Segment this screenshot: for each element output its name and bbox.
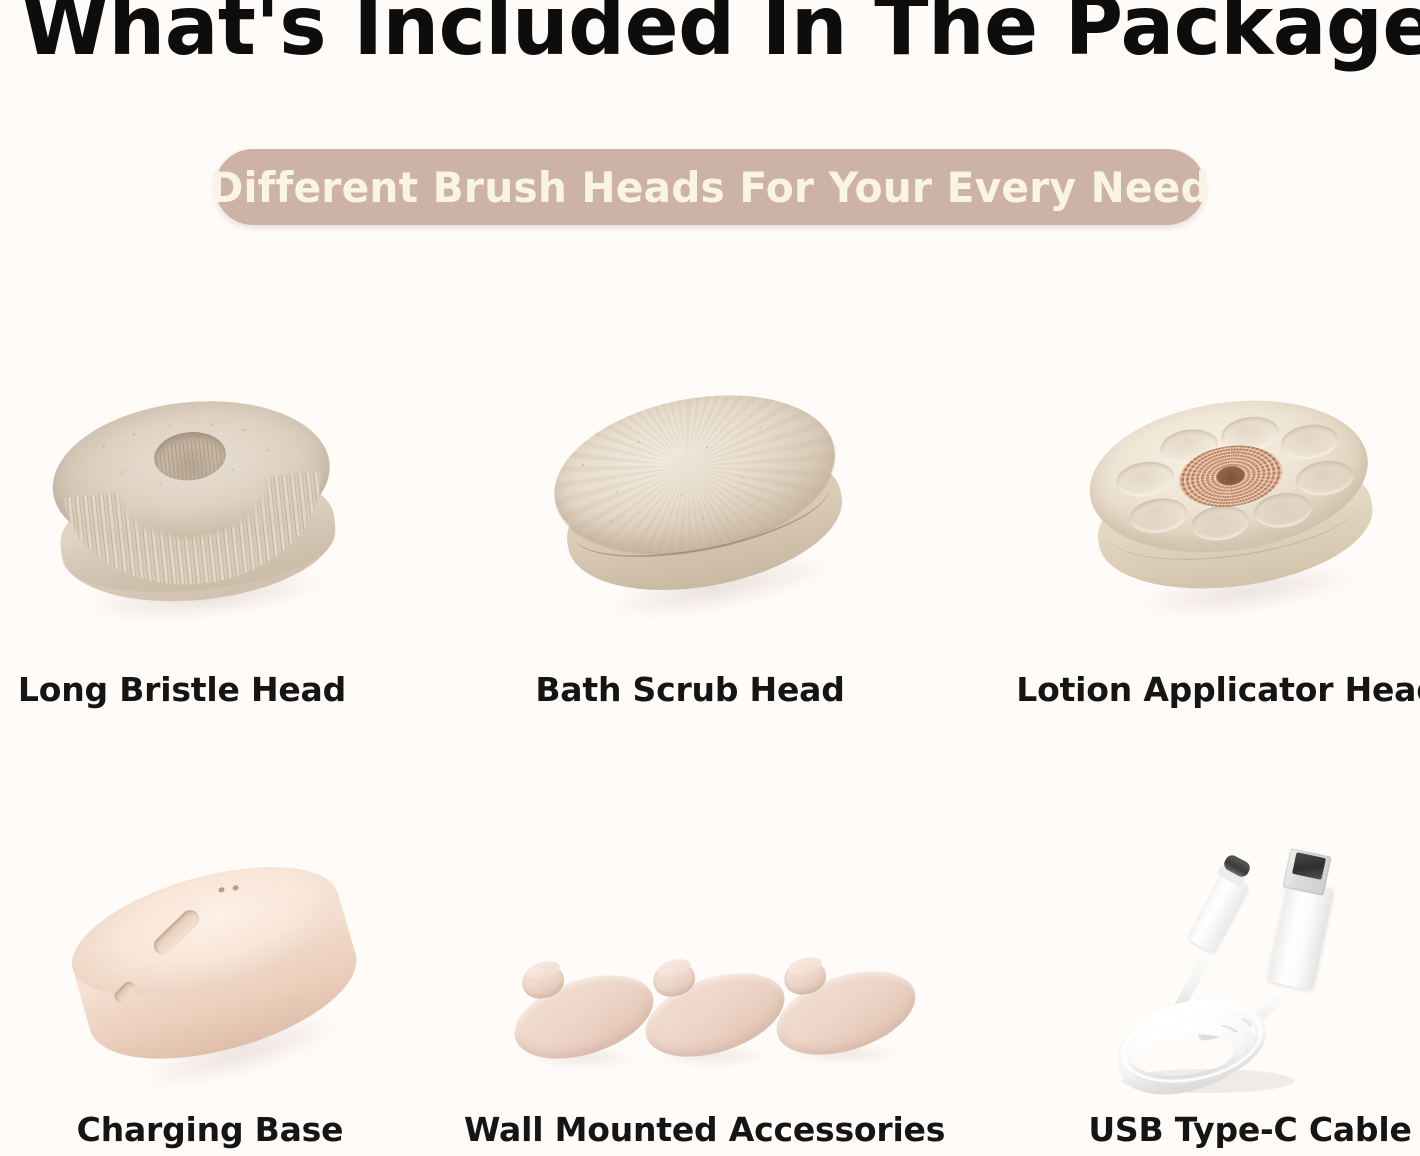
wall-mount-hook <box>772 952 922 1070</box>
brush-head-lotion-icon <box>1075 375 1396 653</box>
product-item-bath-scrub-head: Bath Scrub Head <box>470 370 910 710</box>
product-item-long-bristle-head: Long Bristle Head <box>0 370 420 710</box>
product-item-lotion-applicator-head: Lotion Applicator Head <box>1010 370 1420 710</box>
subtitle-banner: Different Brush Heads For Your Every Nee… <box>215 149 1205 225</box>
lotion-lobe <box>1294 457 1356 499</box>
wall-mount-hook <box>510 956 660 1074</box>
usb-cable-wire <box>1100 845 1420 1095</box>
product-label-bath-scrub-head: Bath Scrub Head <box>470 670 910 709</box>
product-item-charging-base: Charging Base <box>40 845 400 1105</box>
product-label-wall-mounted-accessories: Wall Mounted Accessories <box>464 1110 944 1149</box>
product-label-lotion-applicator-head: Lotion Applicator Head <box>1010 670 1420 709</box>
lotion-lobe <box>1114 458 1176 500</box>
charging-base-icon <box>43 818 398 1131</box>
product-label-charging-base: Charging Base <box>30 1110 390 1149</box>
product-label-long-bristle-head: Long Bristle Head <box>2 670 362 709</box>
brush-head-bristle-icon <box>38 374 353 653</box>
product-item-wall-mounted-accessories: Wall Mounted Accessories <box>500 845 940 1105</box>
usb-cable-icon <box>1100 845 1420 1095</box>
lotion-lobe <box>1279 421 1341 463</box>
page-title: What's Included In The Package <box>21 0 1398 68</box>
brush-head-scrub-icon <box>538 367 868 658</box>
wall-mount-hook-icon <box>510 950 940 1080</box>
subtitle-text: Different Brush Heads For Your Every Nee… <box>210 163 1210 212</box>
product-item-usb-type-c-cable: USB Type-C Cable <box>1090 845 1420 1105</box>
wall-mount-hook <box>641 954 791 1072</box>
product-label-usb-type-c-cable: USB Type-C Cable <box>1060 1110 1420 1149</box>
